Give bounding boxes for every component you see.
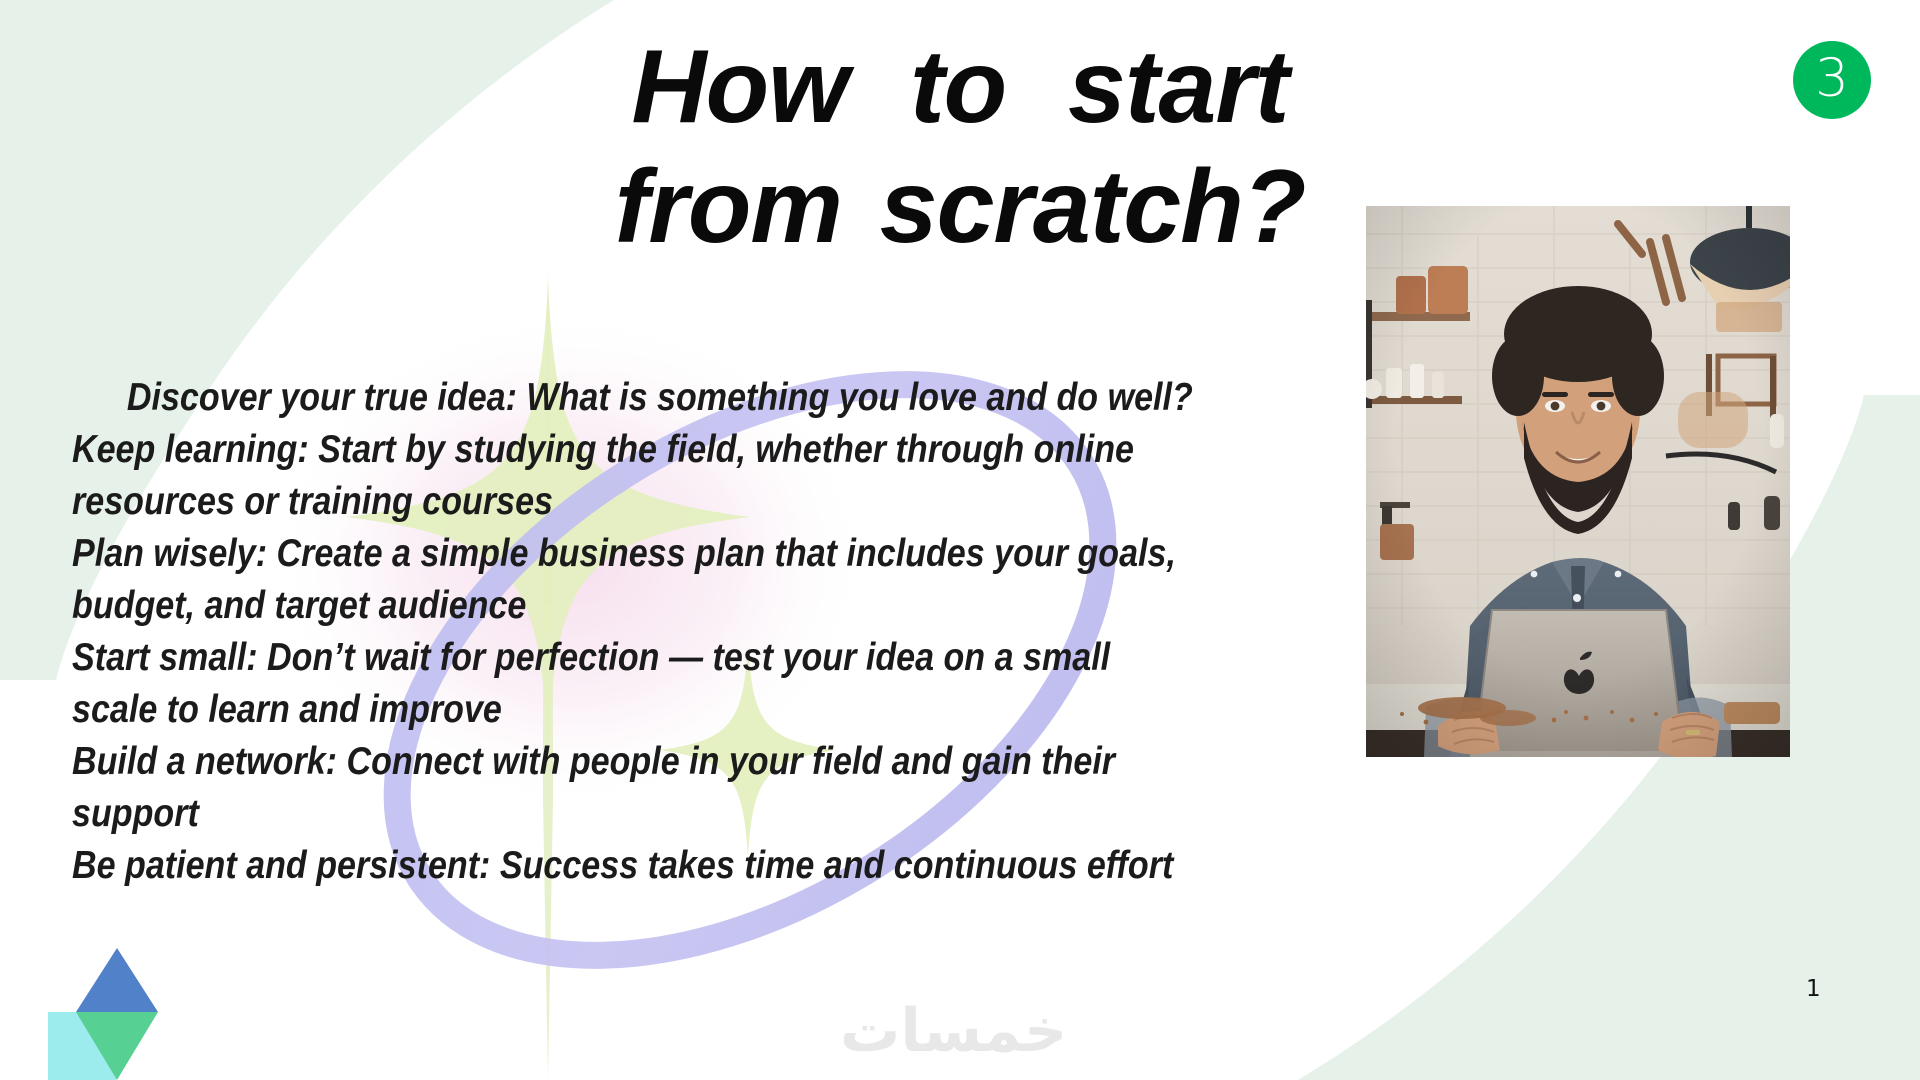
brand-logo [48, 948, 178, 1080]
slide-number-badge-label: 3 [1815, 52, 1849, 105]
slide-number-badge: 3 [1793, 41, 1871, 119]
body-line: Start small: Don’t wait for perfection —… [72, 632, 1209, 684]
title-line-1: How to start [632, 29, 1289, 145]
body-line: Keep learning: Start by studying the fie… [72, 424, 1209, 476]
slide-photo [1366, 206, 1790, 757]
body-line: support [72, 788, 1209, 840]
body-line: Build a network: Connect with people in … [72, 736, 1209, 788]
title-line-2: from scratch? [615, 149, 1306, 265]
page-title: How to startfrom scratch? [430, 28, 1490, 267]
body-text-block: Discover your true idea: What is somethi… [72, 372, 1209, 892]
body-line: Discover your true idea: What is somethi… [72, 372, 1209, 424]
body-line: budget, and target audience [72, 580, 1209, 632]
body-line: scale to learn and improve [72, 684, 1209, 736]
body-line: resources or training courses [72, 476, 1209, 528]
body-line: Be patient and persistent: Success takes… [72, 840, 1209, 892]
page-number: 1 [1806, 976, 1821, 1002]
watermark-text: خمسات [840, 996, 1067, 1066]
logo-blue-triangle-up [76, 948, 158, 1012]
body-line: Plan wisely: Create a simple business pl… [72, 528, 1209, 580]
presentation-slide: How to startfrom scratch? 3 Discover you… [0, 0, 1920, 1080]
